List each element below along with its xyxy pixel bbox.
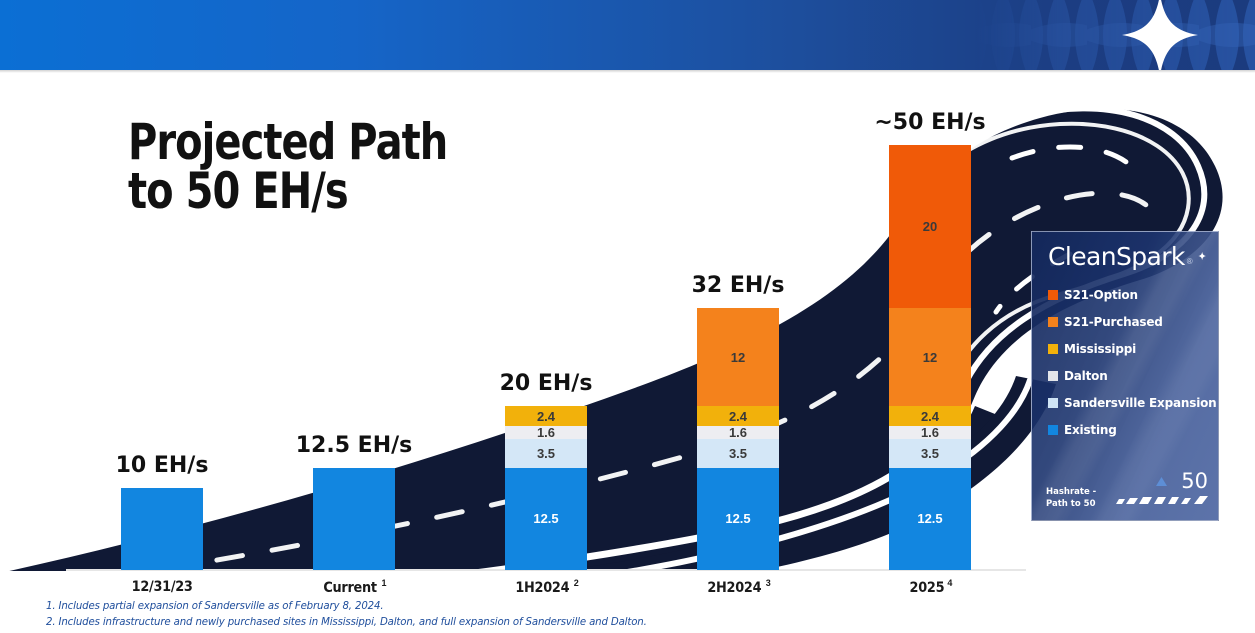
bar-segment[interactable]: 2.4	[889, 406, 971, 426]
footnotes-block: 1. Includes partial expansion of Sanders…	[46, 598, 746, 631]
bar-total-label: 32 EH/s	[692, 273, 785, 298]
x-axis-tick-label: 2025	[909, 580, 944, 596]
bar-segment-value-label: 2.4	[729, 410, 747, 423]
legend-item-label: S21-Option	[1064, 287, 1138, 302]
bar-stack[interactable]	[121, 488, 203, 570]
four-point-star-icon	[1120, 0, 1200, 70]
footnote-2: 2. Includes infrastructure and newly pur…	[46, 614, 725, 630]
bar-segment[interactable]: 3.5	[889, 439, 971, 468]
bar-segment-value-label: 2.4	[537, 410, 555, 423]
triangle-up-icon	[1156, 477, 1167, 486]
bar-segment[interactable]: 20	[889, 145, 971, 309]
x-axis-tick: 1H20242	[505, 578, 587, 597]
x-axis-tick-label: 2H2024	[708, 580, 762, 596]
bar-total-label: 20 EH/s	[500, 371, 593, 396]
bar-stack[interactable]: 122.41.63.512.5	[697, 308, 779, 570]
hashrate-metric-value: 50	[1181, 471, 1208, 492]
x-axis-tick-footnote-mark: 1	[382, 578, 387, 588]
x-axis-tick-footnote-mark: 2	[574, 578, 579, 588]
bar-segment[interactable]	[313, 468, 395, 570]
legend-item[interactable]: Mississippi	[1048, 335, 1206, 362]
legend-item[interactable]: Dalton	[1048, 362, 1206, 389]
bar-segment[interactable]: 12.5	[889, 468, 971, 570]
bar-segment[interactable]: 2.4	[697, 406, 779, 426]
bar-segment[interactable]: 1.6	[697, 426, 779, 439]
bar-segment[interactable]: 3.5	[505, 439, 587, 468]
bar-segment[interactable]: 1.6	[889, 426, 971, 439]
bar-segment-value-label: 12.5	[917, 512, 942, 525]
brand-logo: CleanSpark ®	[1048, 242, 1206, 271]
x-axis-tick: 20254	[889, 578, 971, 597]
bar-segment-value-label: 20	[923, 220, 937, 233]
bar-segment[interactable]: 12.5	[697, 468, 779, 570]
bar-segment-value-label: 12.5	[725, 512, 750, 525]
bar-segment[interactable]: 12	[697, 308, 779, 406]
legend-item-label: Mississippi	[1064, 341, 1136, 356]
x-axis-tick-label: 12/31/23	[132, 579, 193, 595]
bar-segment-value-label: 12	[731, 351, 745, 364]
bar-segment[interactable]: 12.5	[505, 468, 587, 570]
brand-registered-mark: ®	[1187, 257, 1193, 266]
bar-segment-value-label: 3.5	[537, 447, 555, 460]
bar-chart-plot-area: 10 EH/s12.5 EH/s2.41.63.512.520 EH/s122.…	[66, 120, 1026, 570]
x-axis-tick: Current1	[313, 578, 395, 597]
bar-stack[interactable]	[313, 468, 395, 570]
x-axis-tick-footnote-mark: 4	[947, 578, 952, 588]
legend-color-swatch	[1048, 317, 1058, 327]
legend-item[interactable]: Existing	[1048, 416, 1206, 443]
bar-total-label: 10 EH/s	[116, 453, 209, 478]
legend-color-swatch	[1048, 398, 1058, 408]
hashrate-metric-right: 50	[1116, 471, 1208, 510]
bar-stack[interactable]: 20122.41.63.512.5	[889, 145, 971, 570]
hashrate-metric-caption: Hashrate - Path to 50	[1046, 487, 1096, 510]
x-axis-tick-label: 1H2024	[516, 580, 570, 596]
bar-segment-value-label: 3.5	[729, 447, 747, 460]
bar-total-label: 12.5 EH/s	[296, 433, 413, 458]
legend-item-label: Existing	[1064, 422, 1117, 437]
legend-item-label: Sandersville Expansion	[1064, 395, 1217, 410]
bar-segment-value-label: 2.4	[921, 410, 939, 423]
bar-segment[interactable]	[121, 488, 203, 570]
legend-color-swatch	[1048, 425, 1058, 435]
legend-item[interactable]: Sandersville Expansion	[1048, 389, 1206, 416]
diamond-lattice-pattern-icon	[975, 0, 1255, 70]
legend-item-label: S21-Purchased	[1064, 314, 1163, 329]
footnote-1: 1. Includes partial expansion of Sanders…	[46, 598, 725, 614]
bar-segment[interactable]: 2.4	[505, 406, 587, 426]
bar-segment[interactable]: 12	[889, 308, 971, 406]
legend-color-swatch	[1048, 290, 1058, 300]
bar-total-label: ~50 EH/s	[874, 110, 985, 135]
x-axis-tick: 12/31/23	[121, 578, 203, 596]
legend-item-label: Dalton	[1064, 368, 1108, 383]
bar-segment-value-label: 1.6	[729, 426, 747, 439]
legend-item[interactable]: S21-Option	[1048, 281, 1206, 308]
sparkline-bars-icon	[1116, 495, 1208, 505]
slide-root: Projected Path to 50 EH/s 10 EH/s12.5 EH…	[0, 0, 1255, 633]
bar-segment-value-label: 1.6	[921, 426, 939, 439]
bar-segment-value-label: 12	[923, 351, 937, 364]
hashrate-metric-widget: Hashrate - Path to 50 50	[1046, 471, 1208, 510]
legend-items-list: S21-OptionS21-PurchasedMississippiDalton…	[1046, 281, 1206, 443]
bar-segment[interactable]: 3.5	[697, 439, 779, 468]
four-point-star-icon	[1198, 244, 1206, 268]
x-axis-tick-label: Current	[324, 580, 377, 596]
x-axis-tick-footnote-mark: 3	[766, 578, 771, 588]
bar-segment-value-label: 12.5	[533, 512, 558, 525]
legend-color-swatch	[1048, 344, 1058, 354]
bar-segment[interactable]: 1.6	[505, 426, 587, 439]
brand-name: CleanSpark	[1048, 242, 1185, 271]
bar-segment-value-label: 3.5	[921, 447, 939, 460]
bar-stack[interactable]: 2.41.63.512.5	[505, 406, 587, 570]
legend-color-swatch	[1048, 371, 1058, 381]
bar-segment-value-label: 1.6	[537, 426, 555, 439]
top-banner	[0, 0, 1255, 70]
x-axis-tick: 2H20243	[697, 578, 779, 597]
legend-item[interactable]: S21-Purchased	[1048, 308, 1206, 335]
legend-card: CleanSpark ® S21-OptionS21-PurchasedMiss…	[1031, 231, 1219, 521]
